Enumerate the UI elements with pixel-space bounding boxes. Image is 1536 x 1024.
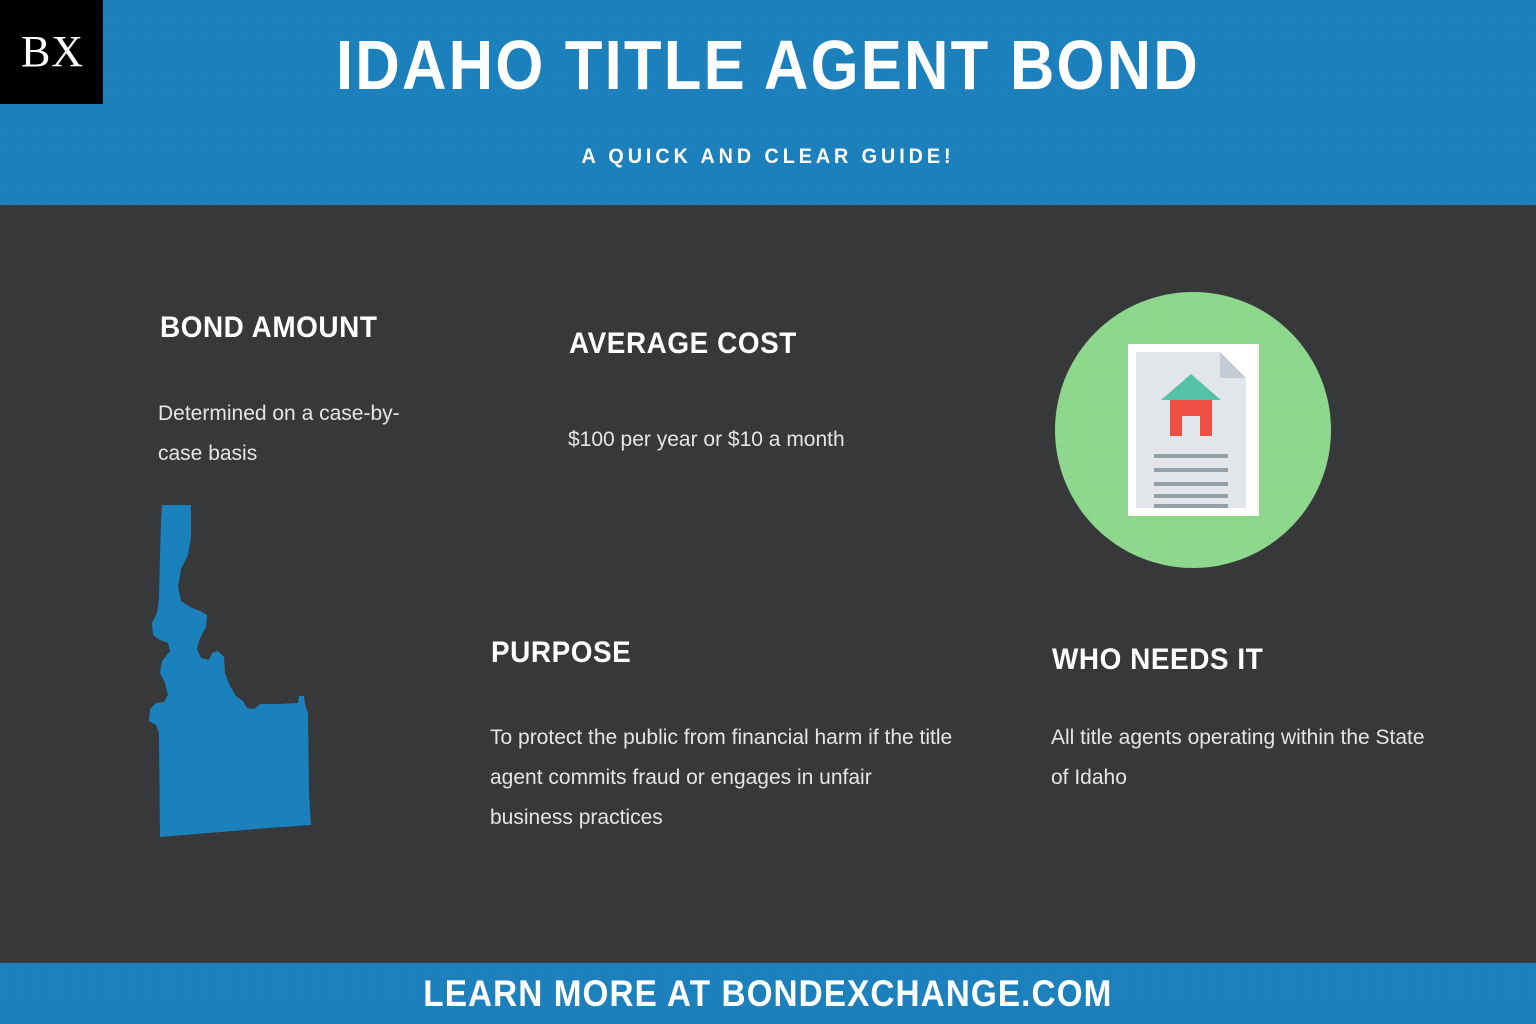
footer-banner[interactable]: LEARN MORE AT BONDEXCHANGE.COM — [0, 963, 1536, 1024]
section-heading-purpose: PURPOSE — [491, 638, 631, 668]
section-heading-bond-amount: BOND AMOUNT — [160, 313, 377, 343]
page-subtitle: A QUICK AND CLEAR GUIDE! — [46, 146, 1490, 167]
section-heading-average-cost: AVERAGE COST — [569, 329, 797, 359]
bx-logo-text: BX — [19, 30, 84, 74]
header-banner: BX IDAHO TITLE AGENT BOND A QUICK AND CL… — [0, 0, 1536, 205]
section-body-who-needs-it: All title agents operating within the St… — [1051, 718, 1441, 798]
property-deed-document-icon — [1128, 344, 1259, 516]
page-title: IDAHO TITLE AGENT BOND — [92, 30, 1444, 100]
section-body-bond-amount: Determined on a case-by-case basis — [158, 394, 428, 474]
idaho-state-map-icon — [148, 503, 370, 841]
bx-logo[interactable]: BX — [0, 0, 103, 104]
section-heading-who-needs-it: WHO NEEDS IT — [1052, 645, 1263, 675]
section-body-average-cost: $100 per year or $10 a month — [568, 420, 988, 460]
footer-cta-text: LEARN MORE AT BONDEXCHANGE.COM — [423, 975, 1112, 1012]
section-body-purpose: To protect the public from financial har… — [490, 718, 960, 838]
infographic-page: BX IDAHO TITLE AGENT BOND A QUICK AND CL… — [0, 0, 1536, 1024]
